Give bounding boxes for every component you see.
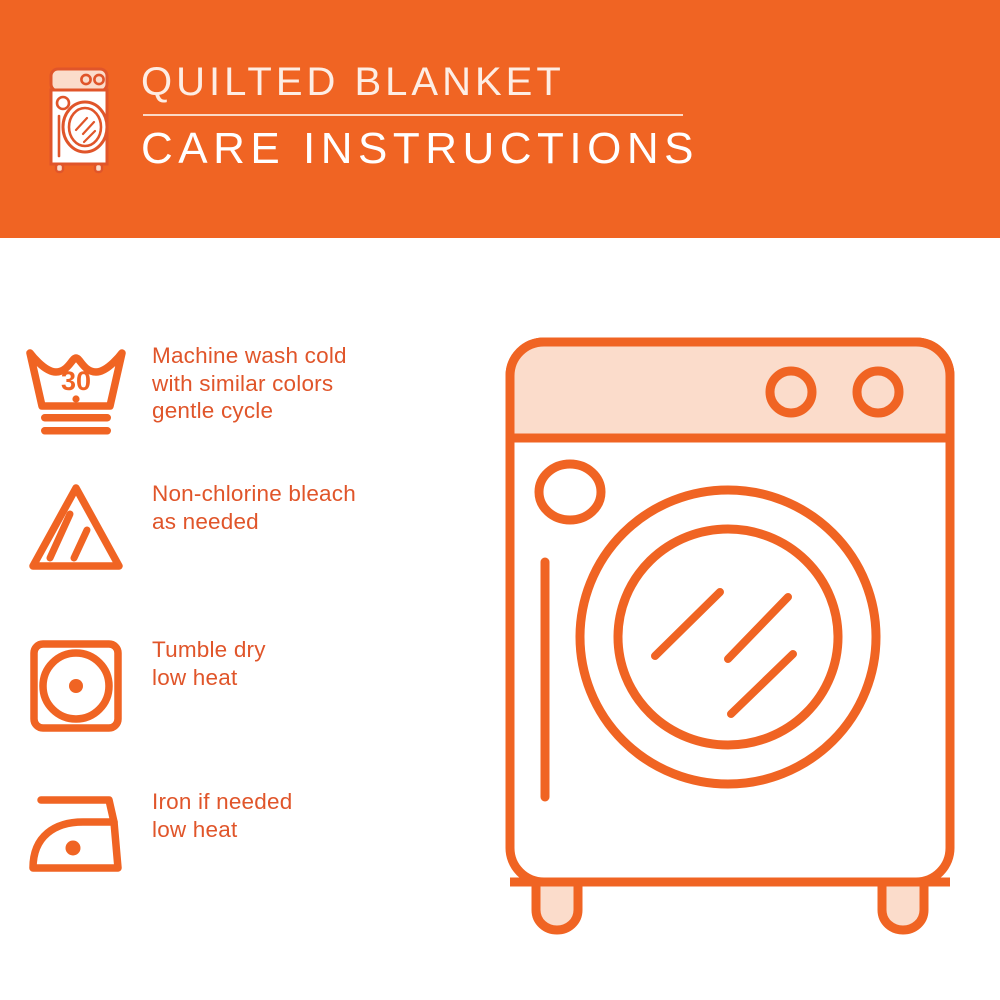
care-text-line: with similar colors [152, 370, 347, 398]
washing-machine-illustration [488, 322, 972, 942]
care-item-text: Iron if needed low heat [152, 786, 292, 843]
care-text-line: Tumble dry [152, 636, 266, 664]
iron-low-heat-icon [0, 786, 152, 874]
care-text-line: Non-chlorine bleach [152, 480, 356, 508]
care-item-text: Machine wash cold with similar colors ge… [152, 340, 347, 425]
care-instructions-page: QUILTED BLANKET CARE INSTRUCTIONS 30 Mac… [0, 0, 1000, 1000]
page-subtitle: CARE INSTRUCTIONS [141, 123, 841, 175]
care-text-line: gentle cycle [152, 397, 347, 425]
care-text-line: low heat [152, 664, 266, 692]
wash-basin-30-gentle-icon: 30 [0, 340, 152, 442]
care-item-bleach: Non-chlorine bleach as needed [0, 478, 500, 598]
header-banner: QUILTED BLANKET CARE INSTRUCTIONS [0, 0, 1000, 238]
tumble-dry-low-heat-icon [0, 634, 152, 736]
care-item-iron: Iron if needed low heat [0, 786, 500, 906]
care-text-line: Iron if needed [152, 788, 292, 816]
care-item-text: Tumble dry low heat [152, 634, 266, 691]
care-text-line: low heat [152, 816, 292, 844]
care-text-line: as needed [152, 508, 356, 536]
control-panel [510, 342, 950, 438]
care-text-line: Machine wash cold [152, 342, 347, 370]
care-instruction-list: 30 Machine wash cold with similar colors… [0, 238, 500, 1000]
page-title: QUILTED BLANKET [141, 58, 841, 106]
leg-right [882, 882, 924, 930]
care-item-text: Non-chlorine bleach as needed [152, 478, 356, 535]
wash-temperature-value: 30 [61, 366, 91, 396]
leg-left [536, 882, 578, 930]
header-title-group: QUILTED BLANKET CARE INSTRUCTIONS [141, 58, 841, 175]
care-item-machine-wash: 30 Machine wash cold with similar colors… [0, 340, 500, 460]
non-chlorine-bleach-triangle-icon [0, 478, 152, 574]
washing-machine-icon [45, 66, 113, 174]
care-item-tumble-dry: Tumble dry low heat [0, 634, 500, 754]
title-divider [143, 114, 683, 116]
